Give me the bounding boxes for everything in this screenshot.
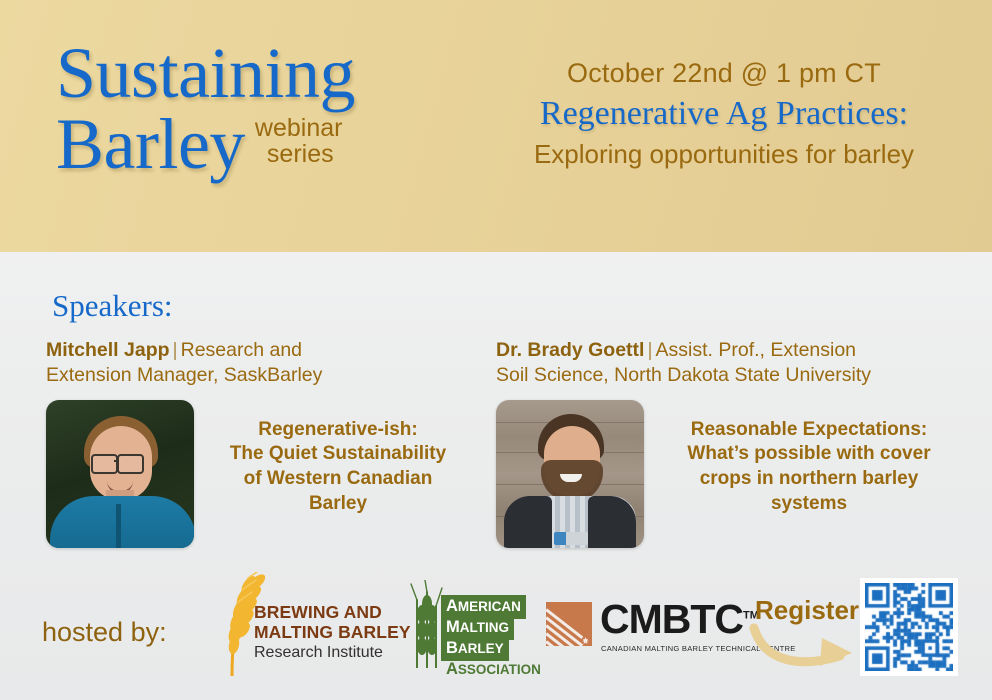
webinar-promo-poster: Sustaining Barley webinar series October…	[0, 0, 992, 700]
speaker-role-line-1-0: Research and	[181, 339, 302, 361]
header-band: Sustaining Barley webinar series October…	[0, 0, 992, 252]
logo-amba: AMERICAN MALTING BARLEY ASSOCIATION	[405, 578, 529, 670]
bmbri-line-2: MALTING BARLEY	[254, 623, 411, 643]
registration-qr-code[interactable]	[860, 578, 958, 676]
webinar-series-label: webinar series	[255, 116, 343, 179]
bmbri-line-1: BREWING AND	[254, 603, 411, 623]
bmbri-line-3: Research Institute	[254, 644, 411, 662]
brand-title-block: Sustaining Barley webinar series	[56, 38, 476, 179]
speaker-credit-0: Mitchell Japp|Research and Extension Man…	[46, 338, 466, 389]
event-topic-subtitle: Exploring opportunities for barley	[478, 139, 970, 170]
speaker-credit-1: Dr. Brady Goettl|Assist. Prof., Extensio…	[496, 338, 956, 389]
bmbri-text-block: BREWING AND MALTING BARLEY Research Inst…	[254, 603, 411, 662]
speaker-role-line-2-0: Extension Manager, SaskBarley	[46, 364, 322, 386]
series-line-1: webinar	[255, 114, 343, 142]
wheat-stalks-icon	[405, 580, 445, 668]
cmbtc-wordmark: CMBTCTM	[600, 598, 759, 641]
speaker-photo-0	[46, 400, 194, 548]
speaker-body-0: Regenerative-ish:The Quiet Sustainabilit…	[46, 400, 466, 548]
series-line-2: series	[255, 142, 343, 168]
speaker-separator-0: |	[170, 339, 181, 361]
speakers-heading: Speakers:	[52, 288, 173, 324]
speaker-card-0: Mitchell Japp|Research and Extension Man…	[46, 338, 466, 548]
event-date: October 22nd @ 1 pm CT	[478, 58, 970, 89]
cmbtc-wordmark-text: CMBTC	[600, 596, 743, 642]
brand-title-line-2: Barley	[56, 109, 245, 180]
amba-row-3: ASSOCIATION	[441, 658, 546, 682]
logo-cmbtc: CMBTCTM CANADIAN MALTING BARLEY TECHNICA…	[546, 600, 730, 662]
speaker-role-line-1-1: Assist. Prof., Extension	[656, 339, 857, 361]
cmbtc-mark-icon	[546, 602, 592, 646]
speaker-name-0: Mitchell Japp	[46, 339, 170, 361]
speaker-card-1: Dr. Brady Goettl|Assist. Prof., Extensio…	[496, 338, 956, 548]
logo-bmbri: BREWING AND MALTING BARLEY Research Inst…	[196, 570, 392, 678]
curved-arrow-icon	[748, 622, 860, 674]
brand-title-line-1: Sustaining	[56, 38, 476, 109]
speaker-name-1: Dr. Brady Goettl	[496, 339, 644, 361]
speaker-role-line-2-1: Soil Science, North Dakota State Univers…	[496, 364, 871, 386]
speaker-body-1: Reasonable Expectations:What’s possible …	[496, 400, 956, 548]
speaker-talk-title-0: Regenerative-ish:The Quiet Sustainabilit…	[194, 400, 466, 517]
qr-canvas	[865, 583, 953, 671]
event-info-block: October 22nd @ 1 pm CT Regenerative Ag P…	[478, 58, 970, 170]
speaker-photo-1	[496, 400, 644, 548]
hosted-by-label: hosted by:	[42, 617, 167, 648]
event-topic-title: Regenerative Ag Practices:	[478, 95, 970, 133]
speaker-talk-title-1: Reasonable Expectations:What’s possible …	[644, 400, 956, 517]
speaker-separator-1: |	[644, 339, 655, 361]
brand-title-line-2-row: Barley webinar series	[56, 109, 476, 180]
